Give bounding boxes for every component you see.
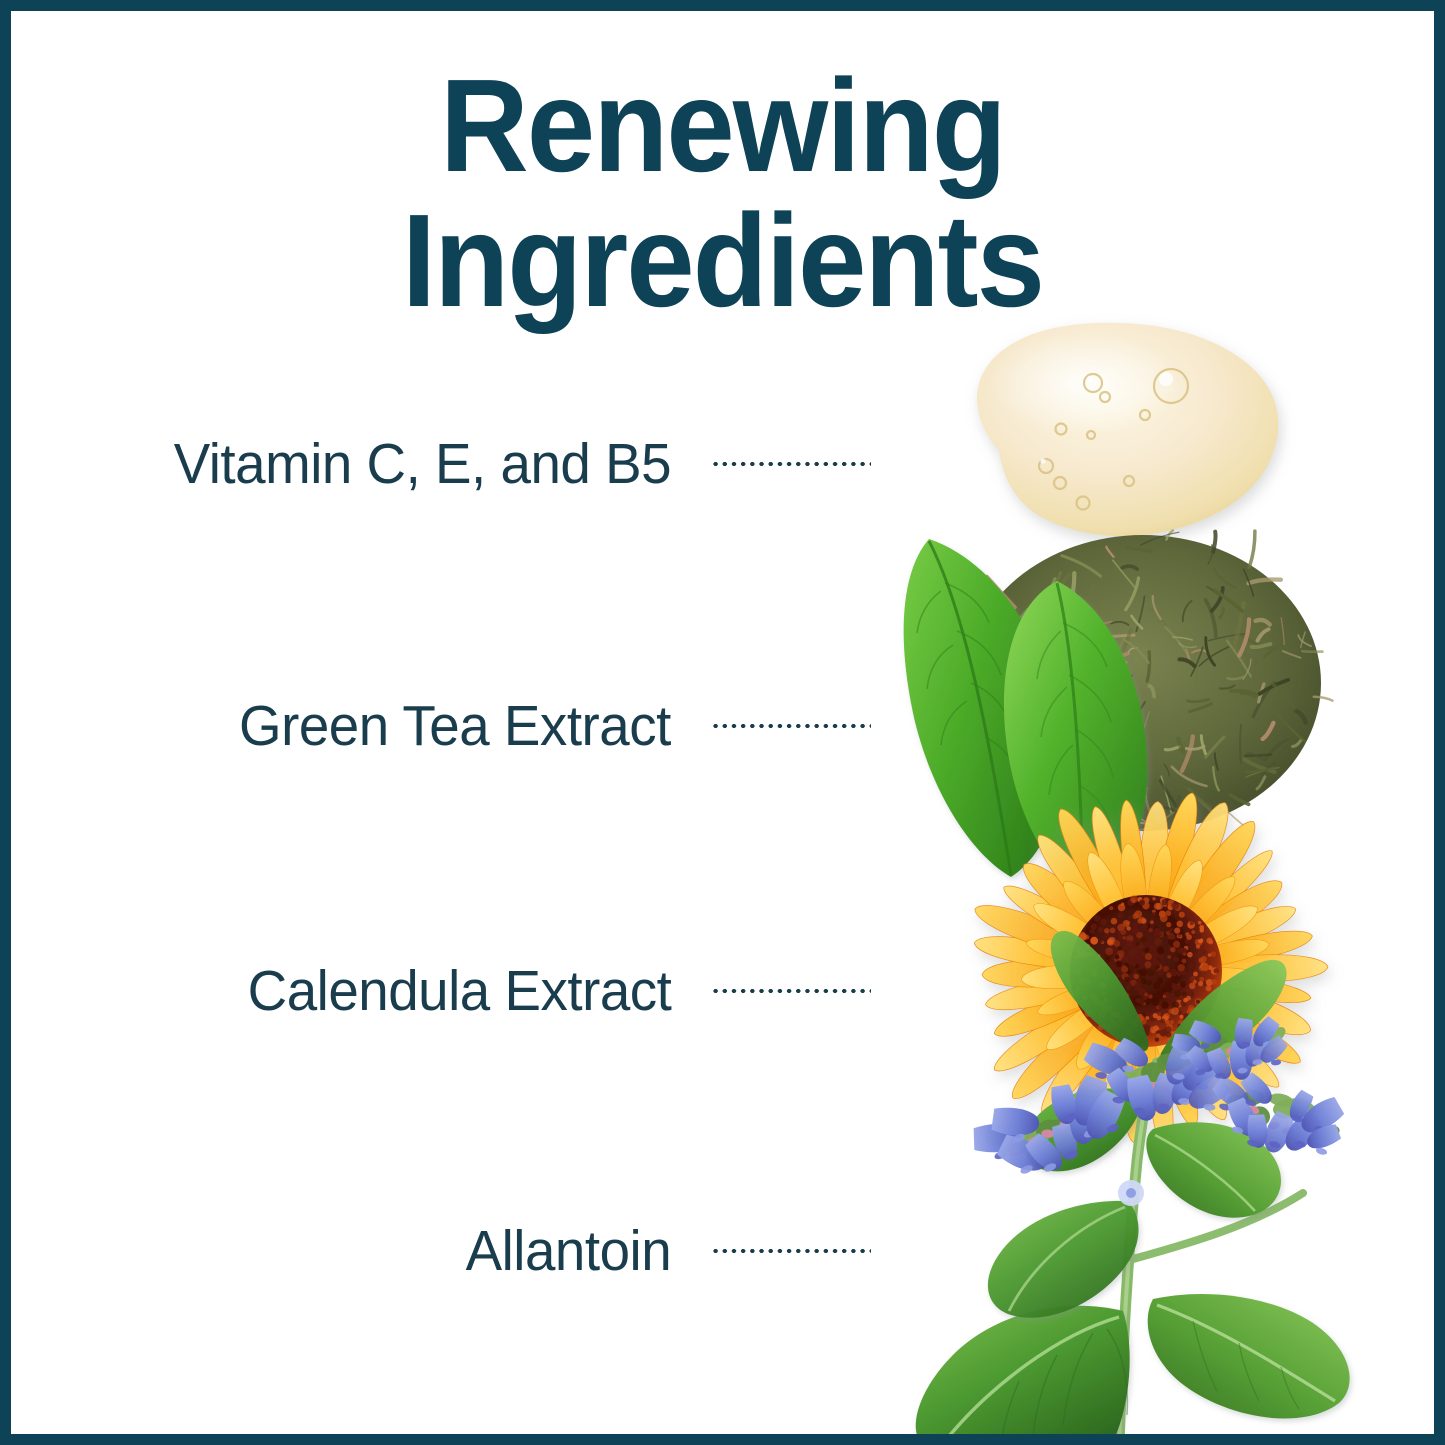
ingredient-row-allantoin: Allantoin (71, 1216, 871, 1286)
ingredient-label: Calendula Extract (247, 963, 671, 1020)
ingredient-label: Vitamin C, E, and B5 (174, 436, 671, 493)
dotted-leader-icon (711, 987, 871, 995)
dried-tea-pile-icon (947, 531, 1333, 832)
page-title: Renewing Ingredients (61, 59, 1384, 328)
calendula-flower-icon (970, 790, 1328, 1153)
serum-droplet-icon (977, 323, 1278, 536)
green-tea-leaf-icon (904, 539, 1148, 895)
dotted-leader-icon (711, 1247, 871, 1255)
infographic-card: Renewing Ingredients Vitamin C, E, and B… (0, 0, 1445, 1445)
infographic-inner: Renewing Ingredients Vitamin C, E, and B… (11, 11, 1434, 1434)
comfrey-plant-icon (916, 931, 1354, 1445)
ingredient-label: Allantoin (465, 1223, 671, 1280)
ingredient-row-green-tea: Green Tea Extract (71, 691, 871, 761)
ingredient-row-calendula: Calendula Extract (71, 956, 871, 1026)
ingredient-row-vitamins: Vitamin C, E, and B5 (71, 429, 871, 499)
dotted-leader-icon (711, 722, 871, 730)
title-line-2: Ingredients (61, 194, 1384, 329)
title-line-1: Renewing (61, 59, 1384, 194)
ingredient-label: Green Tea Extract (239, 698, 671, 755)
dotted-leader-icon (711, 460, 871, 468)
